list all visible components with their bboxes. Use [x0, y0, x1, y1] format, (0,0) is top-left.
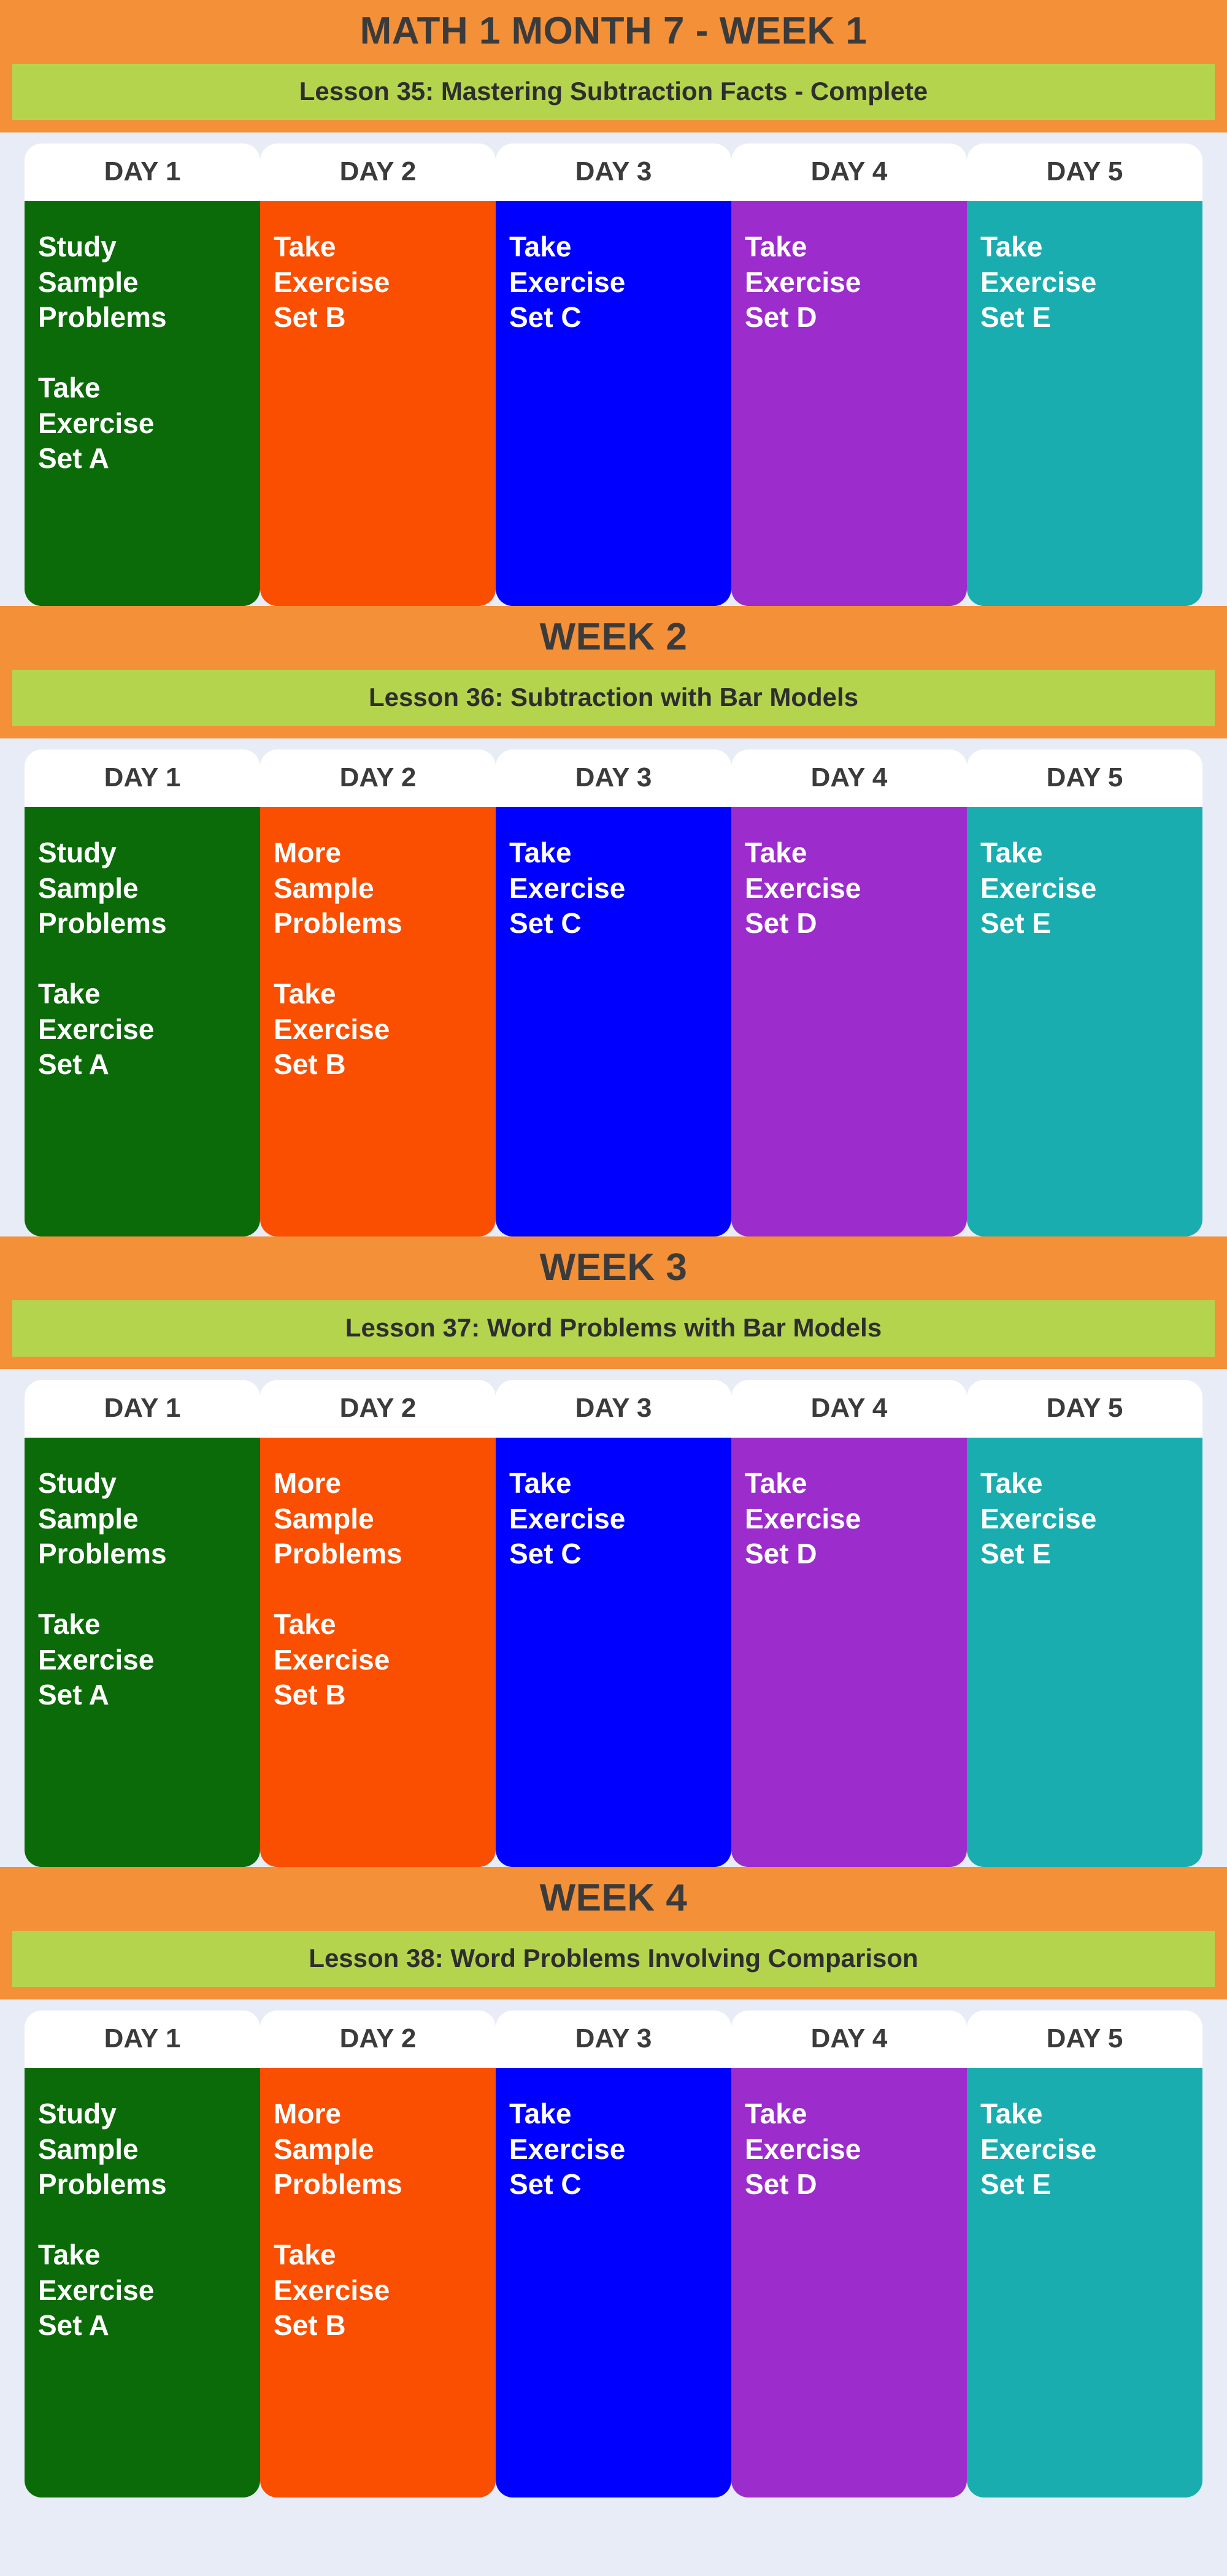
day-header-label: DAY 5: [967, 749, 1202, 807]
day-card-w1-d1[interactable]: DAY 1 Study Sample Problems Take Exercis…: [25, 144, 260, 606]
week-block-1: MATH 1 MONTH 7 - WEEK 1 Lesson 35: Maste…: [0, 0, 1227, 606]
lesson-title-1: Lesson 35: Mastering Subtraction Facts -…: [12, 64, 1215, 120]
day-card-w3-d4[interactable]: DAY 4 Take Exercise Set D: [731, 1380, 967, 1867]
day-header-label: DAY 2: [260, 749, 496, 807]
week-title-3: WEEK 3: [0, 1236, 1227, 1300]
day-card-w4-d4[interactable]: DAY 4 Take Exercise Set D: [731, 2011, 967, 2497]
day-card-w1-d4[interactable]: DAY 4 Take Exercise Set D: [731, 144, 967, 606]
day-task-text: Study Sample Problems Take Exercise Set …: [25, 201, 260, 606]
days-grid-2: DAY 1 Study Sample Problems Take Exercis…: [25, 749, 1202, 1236]
day-header-label: DAY 5: [967, 144, 1202, 201]
day-card-w2-d2[interactable]: DAY 2 More Sample Problems Take Exercise…: [260, 749, 496, 1236]
days-grid-3: DAY 1 Study Sample Problems Take Exercis…: [25, 1380, 1202, 1867]
week-block-3: WEEK 3 Lesson 37: Word Problems with Bar…: [0, 1236, 1227, 1867]
day-task-text: Study Sample Problems Take Exercise Set …: [25, 1438, 260, 1867]
day-header-label: DAY 2: [260, 2011, 496, 2068]
day-header-label: DAY 2: [260, 144, 496, 201]
day-task-text: Take Exercise Set E: [967, 807, 1202, 1236]
day-card-w3-d2[interactable]: DAY 2 More Sample Problems Take Exercise…: [260, 1380, 496, 1867]
week-banner-4: WEEK 4 Lesson 38: Word Problems Involvin…: [0, 1867, 1227, 1999]
day-header-label: DAY 3: [496, 2011, 731, 2068]
days-grid-4: DAY 1 Study Sample Problems Take Exercis…: [25, 2011, 1202, 2497]
day-task-text: Take Exercise Set D: [731, 201, 967, 606]
day-task-text: Take Exercise Set E: [967, 2068, 1202, 2497]
week-banner-2: WEEK 2 Lesson 36: Subtraction with Bar M…: [0, 606, 1227, 738]
day-header-label: DAY 4: [731, 749, 967, 807]
day-card-w1-d3[interactable]: DAY 3 Take Exercise Set C: [496, 144, 731, 606]
day-header-label: DAY 3: [496, 144, 731, 201]
day-card-w2-d5[interactable]: DAY 5 Take Exercise Set E: [967, 749, 1202, 1236]
day-header-label: DAY 5: [967, 1380, 1202, 1438]
week-title-2: WEEK 2: [0, 606, 1227, 670]
day-task-text: More Sample Problems Take Exercise Set B: [260, 807, 496, 1236]
day-header-label: DAY 2: [260, 1380, 496, 1438]
week-title-4: WEEK 4: [0, 1867, 1227, 1931]
day-task-text: Take Exercise Set D: [731, 807, 967, 1236]
day-task-text: Take Exercise Set B: [260, 201, 496, 606]
day-card-w3-d1[interactable]: DAY 1 Study Sample Problems Take Exercis…: [25, 1380, 260, 1867]
week-title-1: MATH 1 MONTH 7 - WEEK 1: [0, 0, 1227, 64]
day-header-label: DAY 1: [25, 749, 260, 807]
day-task-text: Take Exercise Set C: [496, 1438, 731, 1867]
day-header-label: DAY 1: [25, 144, 260, 201]
lesson-title-4: Lesson 38: Word Problems Involving Compa…: [12, 1931, 1215, 1987]
day-task-text: More Sample Problems Take Exercise Set B: [260, 2068, 496, 2497]
day-card-w1-d5[interactable]: DAY 5 Take Exercise Set E: [967, 144, 1202, 606]
day-task-text: Take Exercise Set E: [967, 201, 1202, 606]
day-card-w4-d5[interactable]: DAY 5 Take Exercise Set E: [967, 2011, 1202, 2497]
day-task-text: Study Sample Problems Take Exercise Set …: [25, 807, 260, 1236]
day-task-text: Take Exercise Set E: [967, 1438, 1202, 1867]
day-card-w4-d2[interactable]: DAY 2 More Sample Problems Take Exercise…: [260, 2011, 496, 2497]
day-task-text: Study Sample Problems Take Exercise Set …: [25, 2068, 260, 2497]
day-task-text: Take Exercise Set D: [731, 2068, 967, 2497]
day-header-label: DAY 4: [731, 2011, 967, 2068]
day-card-w2-d3[interactable]: DAY 3 Take Exercise Set C: [496, 749, 731, 1236]
day-task-text: More Sample Problems Take Exercise Set B: [260, 1438, 496, 1867]
day-header-label: DAY 3: [496, 749, 731, 807]
day-card-w3-d3[interactable]: DAY 3 Take Exercise Set C: [496, 1380, 731, 1867]
day-task-text: Take Exercise Set D: [731, 1438, 967, 1867]
day-card-w4-d1[interactable]: DAY 1 Study Sample Problems Take Exercis…: [25, 2011, 260, 2497]
day-header-label: DAY 4: [731, 1380, 967, 1438]
day-card-w2-d1[interactable]: DAY 1 Study Sample Problems Take Exercis…: [25, 749, 260, 1236]
lesson-title-2: Lesson 36: Subtraction with Bar Models: [12, 670, 1215, 726]
day-header-label: DAY 1: [25, 2011, 260, 2068]
day-task-text: Take Exercise Set C: [496, 201, 731, 606]
day-card-w1-d2[interactable]: DAY 2 Take Exercise Set B: [260, 144, 496, 606]
day-card-w2-d4[interactable]: DAY 4 Take Exercise Set D: [731, 749, 967, 1236]
day-header-label: DAY 5: [967, 2011, 1202, 2068]
week-block-2: WEEK 2 Lesson 36: Subtraction with Bar M…: [0, 606, 1227, 1236]
week-block-4: WEEK 4 Lesson 38: Word Problems Involvin…: [0, 1867, 1227, 2497]
day-header-label: DAY 4: [731, 144, 967, 201]
day-header-label: DAY 1: [25, 1380, 260, 1438]
day-task-text: Take Exercise Set C: [496, 807, 731, 1236]
week-banner-3: WEEK 3 Lesson 37: Word Problems with Bar…: [0, 1236, 1227, 1369]
days-grid-1: DAY 1 Study Sample Problems Take Exercis…: [25, 144, 1202, 606]
week-banner-1: MATH 1 MONTH 7 - WEEK 1 Lesson 35: Maste…: [0, 0, 1227, 132]
day-card-w4-d3[interactable]: DAY 3 Take Exercise Set C: [496, 2011, 731, 2497]
day-card-w3-d5[interactable]: DAY 5 Take Exercise Set E: [967, 1380, 1202, 1867]
day-header-label: DAY 3: [496, 1380, 731, 1438]
lesson-title-3: Lesson 37: Word Problems with Bar Models: [12, 1300, 1215, 1357]
day-task-text: Take Exercise Set C: [496, 2068, 731, 2497]
